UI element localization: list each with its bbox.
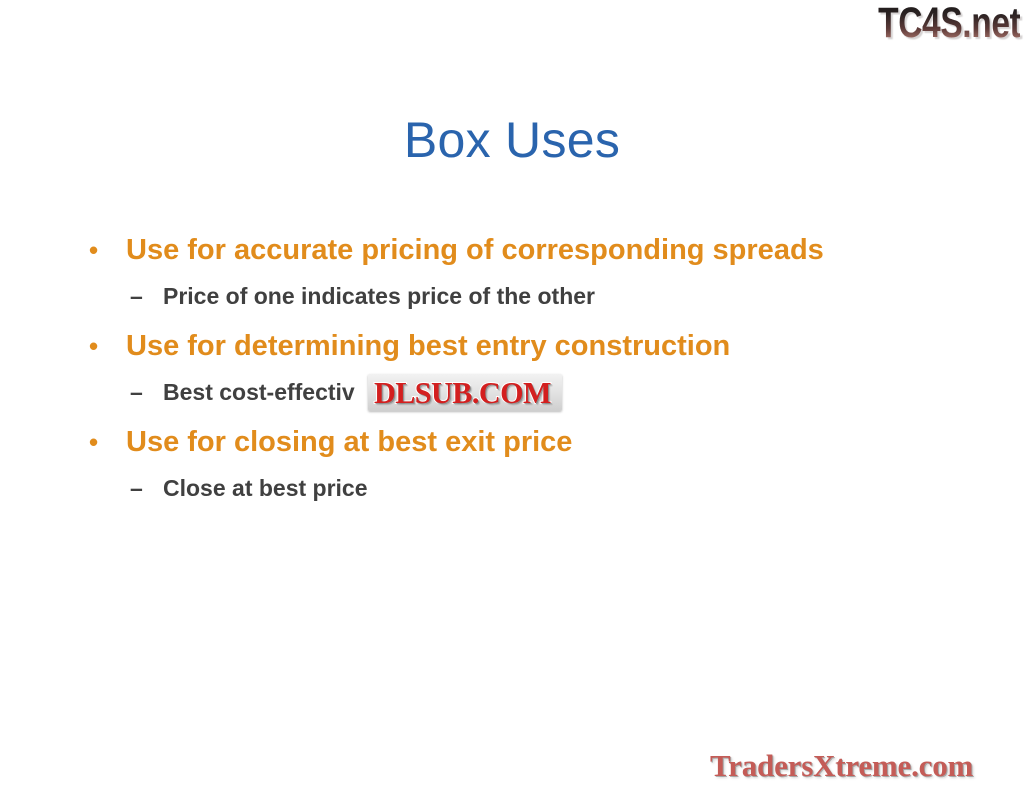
slide-body-list: • Use for accurate pricing of correspond…	[0, 228, 1024, 516]
bullet-level2-1: – Price of one indicates price of the ot…	[0, 276, 1024, 324]
bullet-level2-1-text: Price of one indicates price of the othe…	[163, 283, 595, 309]
bullet-dot-icon: •	[89, 324, 107, 368]
bullet-dash-icon: –	[130, 372, 152, 412]
bullet-level1-1-text: Use for accurate pricing of correspondin…	[126, 234, 824, 266]
brand-logo-tc4s: TC4S.net	[878, 2, 1020, 45]
tradersxtreme-footer-logo: TradersXtreme.com	[710, 748, 973, 784]
bullet-dot-icon: •	[89, 420, 107, 464]
bullet-group-1: • Use for accurate pricing of correspond…	[0, 228, 1024, 324]
dlsub-watermark-text: DLSUB.COM	[374, 377, 551, 408]
presentation-slide: TC4S.net TC4S.net Box Uses • Use for acc…	[0, 0, 1024, 791]
slide-title: Box Uses	[0, 110, 1024, 170]
bullet-dot-icon: •	[89, 228, 107, 272]
bullet-level1-1: • Use for accurate pricing of correspond…	[0, 228, 1024, 276]
bullet-level2-2-text: Best cost-effectiv	[163, 379, 355, 405]
bullet-level1-2-text: Use for determining best entry construct…	[126, 330, 730, 362]
bullet-dash-icon: –	[130, 276, 152, 316]
bullet-level1-3: • Use for closing at best exit price	[0, 420, 1024, 468]
bullet-level2-3-text: Close at best price	[163, 475, 368, 501]
bullet-level1-3-text: Use for closing at best exit price	[126, 426, 572, 458]
bullet-level1-2: • Use for determining best entry constru…	[0, 324, 1024, 372]
dlsub-watermark: DLSUB.COM	[368, 374, 562, 411]
bullet-dash-icon: –	[130, 468, 152, 508]
bullet-group-3: • Use for closing at best exit price – C…	[0, 420, 1024, 516]
bullet-level2-3: – Close at best price	[0, 468, 1024, 516]
